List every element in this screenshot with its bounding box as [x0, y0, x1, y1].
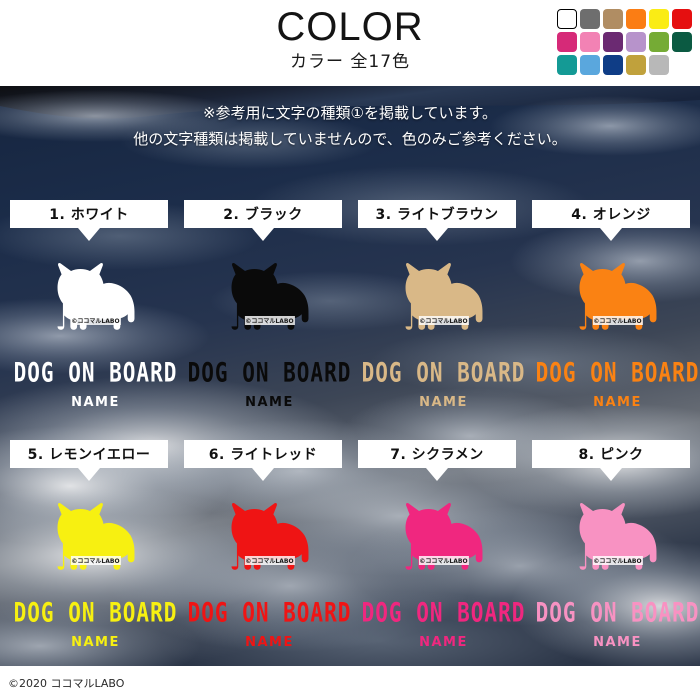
french-bulldog-icon: [42, 488, 150, 588]
color-callout-black: 2. ブラック: [184, 200, 342, 228]
page-footer: ©2020 ココマルLABO: [0, 666, 700, 700]
sticker-item-light-brown[interactable]: ©ココマルLABODOG ON BOARDNAME: [356, 248, 531, 410]
color-callout-lemon-yellow: 5. レモンイエロー: [10, 440, 168, 468]
color-callout-label: 4. オレンジ: [571, 204, 650, 224]
watermark-label: ©ココマルLABO: [244, 316, 294, 325]
sticker-item-pink[interactable]: ©ココマルLABODOG ON BOARDNAME: [530, 488, 700, 650]
sticker-main-text: DOG ON BOARD: [356, 597, 531, 628]
swatch-white[interactable]: [557, 9, 577, 29]
french-bulldog-icon: [216, 248, 324, 348]
copyright-text: ©2020 ココマルLABO: [8, 675, 124, 691]
dog-silhouette-wrap: ©ココマルLABO: [356, 488, 531, 593]
swatch-gold[interactable]: [626, 55, 646, 75]
reference-note-line-2: 他の文字種類は掲載していませんので、色のみご参考ください。: [0, 126, 700, 152]
watermark-label: ©ココマルLABO: [418, 556, 468, 565]
watermark-label: ©ココマルLABO: [592, 316, 642, 325]
sticker-item-cyclamen[interactable]: ©ココマルLABODOG ON BOARDNAME: [356, 488, 531, 650]
color-callout-cyclamen: 7. シクラメン: [358, 440, 516, 468]
swatch-orange[interactable]: [626, 9, 646, 29]
color-callout-label: 5. レモンイエロー: [28, 444, 151, 464]
swatch-silver[interactable]: [649, 55, 669, 75]
sticker-name-text: NAME: [182, 395, 357, 410]
page-header: COLOR カラー 全17色: [0, 0, 700, 86]
sticker-main-text: DOG ON BOARD: [530, 357, 700, 388]
watermark-label: ©ココマルLABO: [70, 316, 120, 325]
watermark-label: ©ココマルLABO: [418, 316, 468, 325]
french-bulldog-icon: [216, 488, 324, 588]
swatch-navy-blue[interactable]: [603, 55, 623, 75]
watermark-label: ©ココマルLABO: [592, 556, 642, 565]
sticker-item-lemon-yellow[interactable]: ©ココマルLABODOG ON BOARDNAME: [8, 488, 183, 650]
dog-silhouette-wrap: ©ココマルLABO: [182, 488, 357, 593]
color-callout-white: 1. ホワイト: [10, 200, 168, 228]
reference-note: ※参考用に文字の種類①を掲載しています。 他の文字種類は掲載していませんので、色…: [0, 100, 700, 152]
swatch-pink[interactable]: [580, 32, 600, 52]
color-callout-label: 1. ホワイト: [49, 204, 128, 224]
watermark-label: ©ココマルLABO: [244, 556, 294, 565]
sticker-main-text: DOG ON BOARD: [182, 357, 357, 388]
sticker-main-text: DOG ON BOARD: [530, 597, 700, 628]
swatch-lavender[interactable]: [626, 32, 646, 52]
dog-silhouette-wrap: ©ココマルLABO: [182, 248, 357, 353]
sticker-main-text: DOG ON BOARD: [182, 597, 357, 628]
swatch-dark-green[interactable]: [672, 32, 692, 52]
sticker-item-white[interactable]: ©ココマルLABODOG ON BOARDNAME: [8, 248, 183, 410]
swatch-light-blue[interactable]: [580, 55, 600, 75]
swatch-gray[interactable]: [580, 9, 600, 29]
color-callout-label: 7. シクラメン: [390, 444, 484, 464]
french-bulldog-icon: [564, 488, 672, 588]
sticker-main-text: DOG ON BOARD: [356, 357, 531, 388]
dog-silhouette-wrap: ©ココマルLABO: [8, 248, 183, 353]
swatch-light-brown[interactable]: [603, 9, 623, 29]
sticker-item-black[interactable]: ©ココマルLABODOG ON BOARDNAME: [182, 248, 357, 410]
sticker-item-orange[interactable]: ©ココマルLABODOG ON BOARDNAME: [530, 248, 700, 410]
color-swatch-grid: [557, 9, 694, 77]
sticker-main-text: DOG ON BOARD: [8, 357, 183, 388]
swatch-lemon-yellow[interactable]: [649, 9, 669, 29]
french-bulldog-icon: [390, 248, 498, 348]
swatch-yellow-green[interactable]: [649, 32, 669, 52]
sticker-item-light-red[interactable]: ©ココマルLABODOG ON BOARDNAME: [182, 488, 357, 650]
color-callout-light-brown: 3. ライトブラウン: [358, 200, 516, 228]
dog-silhouette-wrap: ©ココマルLABO: [530, 248, 700, 353]
french-bulldog-icon: [564, 248, 672, 348]
sticker-name-text: NAME: [356, 635, 531, 650]
french-bulldog-icon: [390, 488, 498, 588]
swatch-light-red[interactable]: [672, 9, 692, 29]
sticker-preview-area: ※参考用に文字の種類①を掲載しています。 他の文字種類は掲載していませんので、色…: [0, 86, 700, 666]
sticker-name-text: NAME: [356, 395, 531, 410]
sticker-name-text: NAME: [8, 635, 183, 650]
reference-note-line-1: ※参考用に文字の種類①を掲載しています。: [0, 100, 700, 126]
color-callout-pink: 8. ピンク: [532, 440, 690, 468]
sticker-name-text: NAME: [530, 635, 700, 650]
color-callout-label: 8. ピンク: [579, 444, 644, 464]
color-callout-orange: 4. オレンジ: [532, 200, 690, 228]
swatch-purple[interactable]: [603, 32, 623, 52]
sticker-name-text: NAME: [530, 395, 700, 410]
sticker-name-text: NAME: [182, 635, 357, 650]
color-callout-label: 3. ライトブラウン: [376, 204, 499, 224]
dog-silhouette-wrap: ©ココマルLABO: [530, 488, 700, 593]
sticker-main-text: DOG ON BOARD: [8, 597, 183, 628]
french-bulldog-icon: [42, 248, 150, 348]
color-callout-label: 2. ブラック: [223, 204, 302, 224]
dog-silhouette-wrap: ©ココマルLABO: [8, 488, 183, 593]
dog-silhouette-wrap: ©ココマルLABO: [356, 248, 531, 353]
sticker-name-text: NAME: [8, 395, 183, 410]
swatch-cyclamen[interactable]: [557, 32, 577, 52]
watermark-label: ©ココマルLABO: [70, 556, 120, 565]
color-callout-label: 6. ライトレッド: [209, 444, 317, 464]
swatch-teal[interactable]: [557, 55, 577, 75]
color-callout-light-red: 6. ライトレッド: [184, 440, 342, 468]
